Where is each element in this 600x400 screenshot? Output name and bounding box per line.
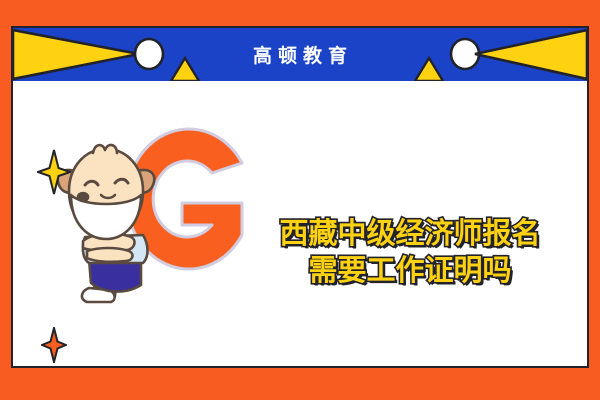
headline-line-1: 西藏中级经济师报名 [245, 215, 575, 252]
mascot-arm-lower [87, 248, 132, 262]
poster-root: 高顿教育 [0, 0, 600, 400]
brand-title: 高顿教育 [13, 28, 587, 81]
headline-block: 西藏中级经济师报名 需要工作证明吗 [245, 215, 575, 289]
main-stage: 西藏中级经济师报名 需要工作证明吗 [13, 81, 587, 366]
content-card: 高顿教育 [11, 26, 589, 368]
headline-line-2: 需要工作证明吗 [245, 252, 575, 289]
mascot-head-tuft [93, 145, 117, 153]
sparkle-top-icon [37, 149, 71, 195]
header-banner: 高顿教育 [13, 28, 587, 81]
mascot-nose [78, 193, 88, 201]
sparkle-bottom-icon [41, 327, 67, 363]
